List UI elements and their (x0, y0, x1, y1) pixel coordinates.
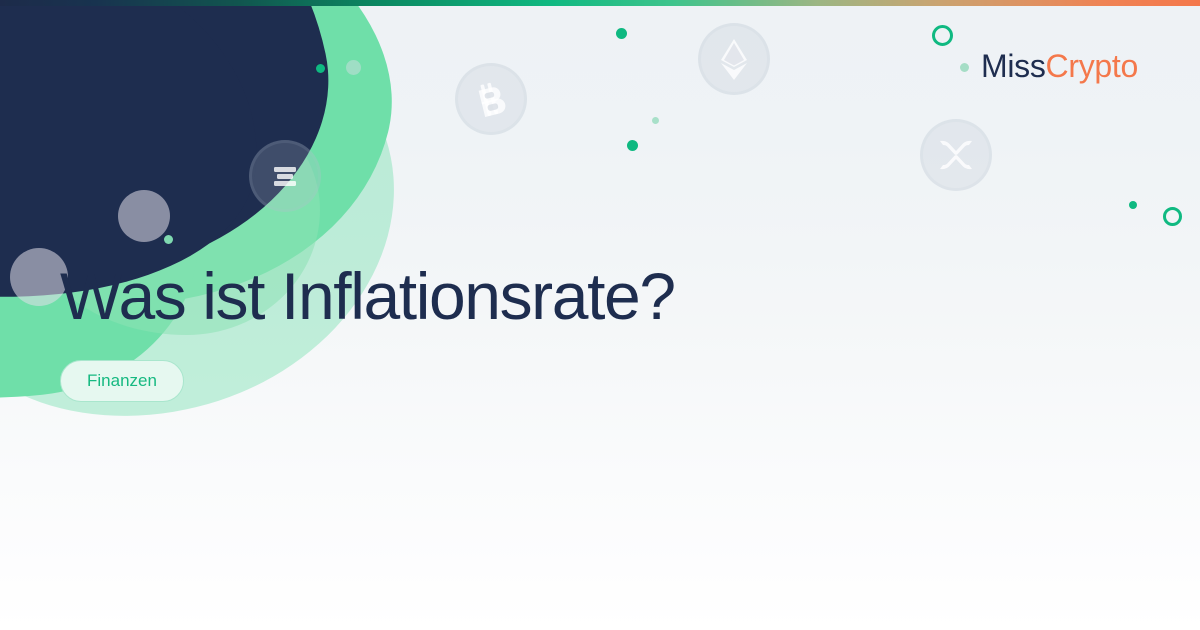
ethereum-coin-icon (698, 23, 770, 95)
decorative-dot (1129, 201, 1137, 209)
decorative-dot (652, 117, 659, 124)
top-gradient-bar (0, 0, 1200, 6)
decorative-dot (960, 63, 969, 72)
eos-coin-icon (249, 140, 321, 212)
hero-content: Was ist Inflationsrate? Finanzen (60, 262, 675, 402)
decorative-ring (1163, 207, 1182, 226)
brand-logo-accent: Crypto (1046, 48, 1138, 84)
decorative-lavender-circle (118, 190, 170, 242)
bitcoin-coin-icon (455, 63, 527, 135)
decorative-dot (346, 60, 361, 75)
brand-logo: MissCrypto (981, 48, 1138, 85)
brand-logo-primary: Miss (981, 48, 1046, 84)
decorative-ring (932, 25, 953, 46)
category-badge[interactable]: Finanzen (60, 360, 184, 402)
decorative-dot (316, 64, 325, 73)
decorative-dot (627, 140, 638, 151)
xrp-coin-icon (920, 119, 992, 191)
decorative-dot (616, 28, 627, 39)
decorative-dot (164, 235, 173, 244)
page-title: Was ist Inflationsrate? (60, 262, 675, 332)
social-share-card: MissCrypto Was ist Inflationsrate? Finan… (0, 0, 1200, 630)
